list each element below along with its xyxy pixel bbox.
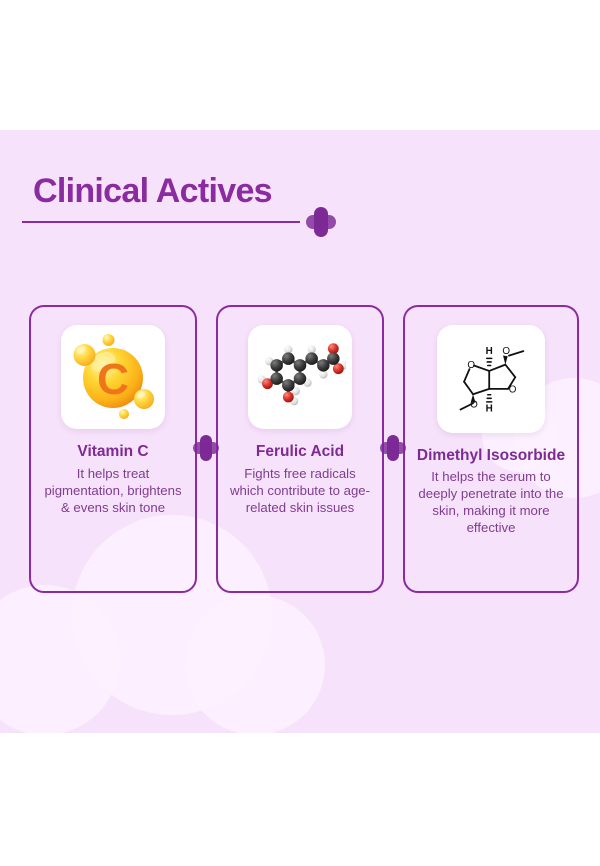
svg-text:H: H bbox=[486, 346, 493, 357]
decorative-blob bbox=[185, 595, 325, 733]
vitamin-c-icon-tile: C bbox=[61, 325, 165, 429]
clover-cross-icon bbox=[306, 207, 336, 237]
svg-text:C: C bbox=[97, 355, 129, 404]
svg-text:O: O bbox=[509, 384, 517, 395]
card-title: Vitamin C bbox=[77, 443, 148, 462]
card-title: Dimethyl Isosorbide bbox=[417, 447, 565, 466]
ferulic-acid-icon-tile bbox=[248, 325, 352, 429]
svg-text:O: O bbox=[467, 360, 475, 371]
card-title: Ferulic Acid bbox=[256, 443, 344, 462]
actives-card-row: C Vitamin C It helps treat pigmentation,… bbox=[0, 305, 600, 595]
card-description: It helps the serum to deeply penetrate i… bbox=[415, 469, 567, 537]
active-card-ferulic-acid[interactable]: Ferulic Acid Fights free radicals which … bbox=[216, 305, 384, 593]
card-description: It helps treat pigmentation, brightens &… bbox=[41, 466, 185, 517]
card-description: Fights free radicals which contribute to… bbox=[228, 466, 372, 517]
active-card-dimethyl-isosorbide[interactable]: O O O O H H bbox=[403, 305, 579, 593]
page-title: Clinical Actives bbox=[33, 172, 272, 211]
dimethyl-isosorbide-icon-tile: O O O O H H bbox=[437, 325, 545, 433]
content-panel: Clinical Actives bbox=[0, 130, 600, 733]
active-card-vitamin-c[interactable]: C Vitamin C It helps treat pigmentation,… bbox=[29, 305, 197, 593]
svg-text:H: H bbox=[486, 403, 493, 414]
svg-text:O: O bbox=[470, 400, 478, 411]
svg-text:O: O bbox=[502, 346, 510, 357]
infographic-canvas: Clinical Actives bbox=[0, 0, 600, 866]
clover-cross-icon bbox=[193, 435, 219, 461]
dimethyl-isosorbide-structure-icon: O O O O H H bbox=[444, 335, 538, 423]
vitamin-c-sphere-icon: C bbox=[67, 331, 159, 423]
clover-cross-icon bbox=[380, 435, 406, 461]
heading-divider bbox=[22, 221, 300, 223]
ferulic-acid-molecule-icon bbox=[254, 337, 346, 417]
